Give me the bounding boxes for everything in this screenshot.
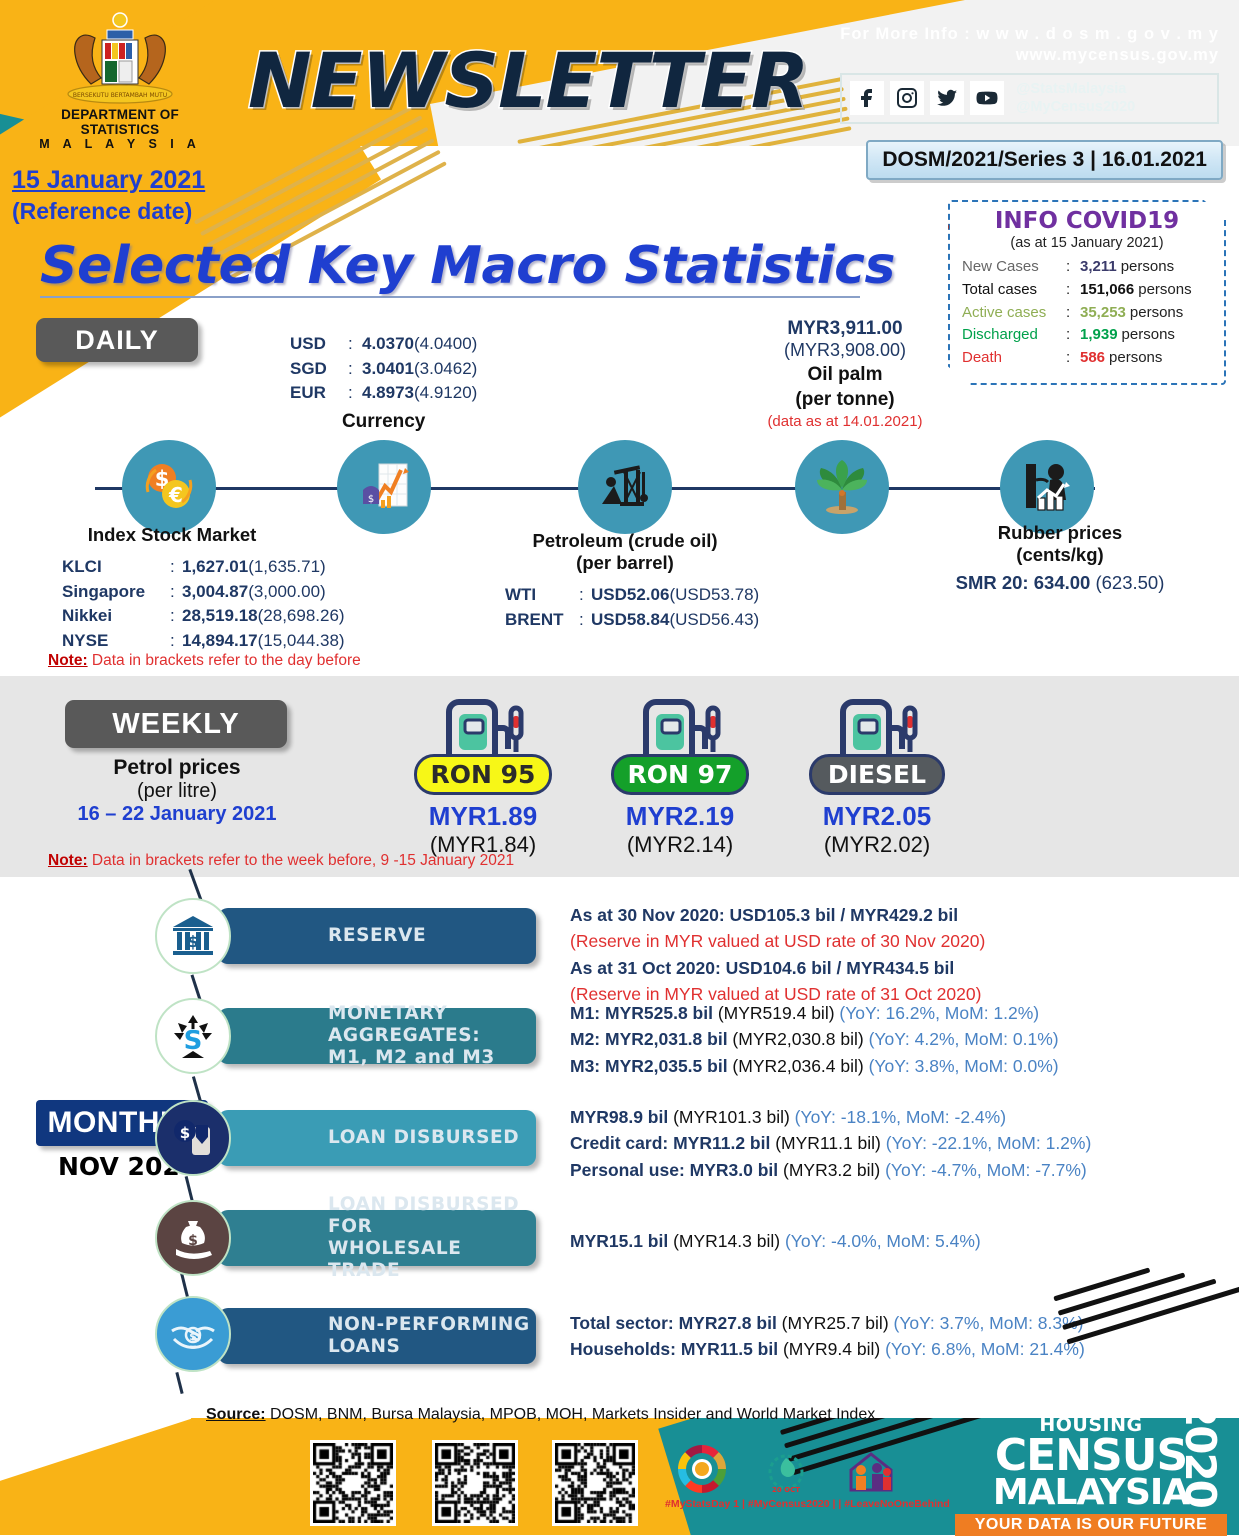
census-logo-tagline: YOUR DATA IS OUR FUTURE	[955, 1514, 1227, 1536]
stock-index-row: NYSE: 14,894.17 (15,044.38)	[62, 629, 345, 654]
weekly-section-pill: WEEKLY	[65, 700, 287, 748]
currency-caption: Currency	[290, 411, 477, 433]
daily-note-text: Data in brackets refer to the day before	[88, 652, 361, 669]
rubber-caption-line2: (cents/kg)	[1016, 544, 1103, 565]
currency-code: USD	[290, 332, 348, 357]
stock-index-name: NYSE	[62, 629, 170, 654]
svg-text:BERSEKUTU BERTAMBAH MUTU: BERSEKUTU BERTAMBAH MUTU	[73, 92, 167, 99]
fuel-price: MYR1.89	[388, 801, 578, 832]
fuel-price: MYR2.19	[585, 801, 775, 832]
covid-stat-label: Death	[962, 347, 1066, 370]
svg-text:$: $	[188, 1233, 198, 1249]
page-title: Selected Key Macro Statistics	[40, 236, 895, 296]
monthly-value-block: MYR15.1 bil (MYR14.3 bil) (YoY: -4.0%, M…	[570, 1228, 1130, 1254]
money-supply-icon: S	[155, 998, 231, 1074]
reference-date: 15 January 2021	[12, 166, 205, 195]
currency-exchange-icon: $ €	[122, 440, 216, 534]
daily-section-pill: DAILY	[36, 318, 198, 362]
twitter-icon[interactable]	[930, 81, 964, 115]
oil-palm-caption-line2: (per tonne)	[745, 389, 945, 411]
daily-note: Note: Data in brackets refer to the day …	[48, 652, 361, 670]
malaysia-coat-of-arms-icon: BERSEKUTU BERTAMBAH MUTU	[45, 8, 195, 106]
stock-index-name: KLCI	[62, 555, 170, 580]
footer-stripes-upper	[1053, 1238, 1239, 1402]
stock-index-previous: (1,635.71)	[248, 555, 326, 580]
monthly-value-line: (Reserve in MYR valued at USD rate of 30…	[570, 928, 1130, 954]
monthly-category-bar[interactable]: MONETARY AGGREGATES:M1, M2 and M3	[218, 1008, 536, 1064]
monthly-category-label: LOAN DISBURSED	[328, 1127, 519, 1149]
footer-white-wedge	[0, 1418, 191, 1511]
covid-stat-colon: :	[1066, 324, 1080, 347]
covid-stat-colon: :	[1066, 279, 1080, 302]
stock-index-name: Nikkei	[62, 604, 170, 629]
covid-stat-unit: persons	[1130, 302, 1183, 325]
qr-code-census[interactable]	[552, 1440, 638, 1526]
currency-value: 3.0401	[362, 357, 414, 382]
census-family-logo-icon	[845, 1444, 897, 1496]
covid-stat-colon: :	[1066, 302, 1080, 325]
currency-previous: (3.0462)	[414, 357, 477, 382]
qr-code-facebook[interactable]	[432, 1440, 518, 1526]
covid-stat-row: Active cases:35,253persons	[962, 302, 1224, 325]
more-info-line1: For More Info : w w w . d o s m . g o v …	[840, 24, 1219, 45]
covid-stat-row: Death:586persons	[962, 347, 1224, 370]
rubber-previous: (623.50)	[1095, 572, 1164, 593]
svg-text:20 OCT: 20 OCT	[772, 1486, 800, 1494]
monthly-category-label: MONETARY AGGREGATES:M1, M2 and M3	[328, 1003, 536, 1068]
covid-subtitle: (as at 15 January 2021)	[950, 235, 1224, 251]
oil-palm-previous: (MYR3,908.00)	[745, 340, 945, 361]
currency-block: USD: 4.0370 (4.0400)SGD: 3.0401 (3.0462)…	[290, 332, 477, 433]
monthly-value-line: MYR98.9 bil (MYR101.3 bil) (YoY: -18.1%,…	[570, 1104, 1130, 1130]
covid-stat-label: New Cases	[962, 256, 1066, 279]
source-label: Source:	[206, 1406, 266, 1423]
petroleum-block: WTI: USD52.06 (USD53.78)BRENT: USD58.84 …	[505, 583, 759, 632]
fuel-price-card: RON 97MYR2.19(MYR2.14)	[585, 698, 775, 858]
petroleum-value: USD52.06	[591, 583, 669, 608]
weekly-note: Note: Data in brackets refer to the week…	[48, 852, 514, 870]
index-stock-market-caption: Index Stock Market	[62, 524, 282, 546]
petroleum-row: BRENT: USD58.84 (USD56.43)	[505, 608, 759, 633]
fuel-previous-price: (MYR2.14)	[585, 832, 775, 858]
covid-info-box: INFO COVID19 (as at 15 January 2021) New…	[948, 200, 1226, 385]
stock-index-row: KLCI: 1,627.01 (1,635.71)	[62, 555, 345, 580]
oil-palm-value: MYR3,911.00	[745, 318, 945, 340]
fuel-price-card: DIESELMYR2.05(MYR2.02)	[782, 698, 972, 858]
bank-icon: $	[155, 898, 231, 974]
weekly-note-label: Note:	[48, 852, 88, 869]
covid-stat-unit: persons	[1122, 324, 1175, 347]
stock-index-previous: (3,000.00)	[248, 580, 326, 605]
currency-code: EUR	[290, 381, 348, 406]
covid-stat-value: 35,253	[1080, 302, 1126, 325]
svg-text:$: $	[180, 1124, 190, 1142]
stock-index-row: Nikkei: 28,519.18 (28,698.26)	[62, 604, 345, 629]
header-info-block: For More Info : w w w . d o s m . g o v …	[840, 24, 1219, 124]
rubber-current: SMR 20: 634.00	[956, 572, 1091, 593]
covid-stat-row: New Cases:3,211persons	[962, 256, 1224, 279]
monthly-category-bar[interactable]: LOAN DISBURSED	[218, 1110, 536, 1166]
covid-stat-value: 586	[1080, 347, 1105, 370]
petroleum-caption: Petroleum (crude oil) (per barrel)	[480, 530, 770, 574]
census-logo-year: 2020	[1176, 1398, 1225, 1507]
currency-previous: (4.9120)	[414, 381, 477, 406]
monthly-value-block: As at 30 Nov 2020: USD105.3 bil / MYR429…	[570, 902, 1130, 1007]
sdg-wheel-icon	[676, 1443, 728, 1495]
fuel-type-badge: DIESEL	[809, 754, 945, 795]
monthly-value-line: M2: MYR2,031.8 bil (MYR2,030.8 bil) (YoY…	[570, 1026, 1130, 1052]
covid-title: INFO COVID19	[950, 208, 1224, 234]
petrol-prices-caption: Petrol prices (per litre) 16 – 22 Januar…	[66, 756, 288, 826]
instagram-icon[interactable]	[890, 81, 924, 115]
daily-note-label: Note:	[48, 652, 88, 669]
covid-stat-unit: persons	[1109, 347, 1162, 370]
fuel-price-card: RON 95MYR1.89(MYR1.84)	[388, 698, 578, 858]
currency-row: SGD: 3.0401 (3.0462)	[290, 357, 477, 382]
oil-palm-note: (data as at 14.01.2021)	[745, 413, 945, 430]
youtube-icon[interactable]	[970, 81, 1004, 115]
covid-stat-colon: :	[1066, 347, 1080, 370]
currency-previous: (4.0400)	[414, 332, 477, 357]
monthly-category-bar[interactable]: RESERVE	[218, 908, 536, 964]
timeline-connector	[175, 1372, 183, 1394]
fuel-type-badge: RON 97	[611, 754, 750, 795]
monthly-category-bar[interactable]: NON-PERFORMING LOANS	[218, 1308, 536, 1364]
svg-text:€: €	[168, 483, 183, 507]
currency-code: SGD	[290, 357, 348, 382]
svg-text:$: $	[189, 1330, 197, 1343]
monthly-value-block: MYR98.9 bil (MYR101.3 bil) (YoY: -18.1%,…	[570, 1104, 1130, 1183]
monthly-value-line: M1: MYR525.8 bil (MYR519.4 bil) (YoY: 16…	[570, 1000, 1130, 1026]
social-handles: @StatsMalaysia @MyCensus2020	[1016, 80, 1135, 116]
petrol-caption-line2: (per litre)	[66, 780, 288, 803]
monthly-value-line: As at 30 Nov 2020: USD105.3 bil / MYR429…	[570, 902, 1130, 928]
rubber-value: SMR 20: 634.00 (623.50)	[930, 572, 1190, 594]
loan-disbursed-icon: $	[155, 1100, 231, 1176]
monthly-value-line: Total sector: MYR27.8 bil (MYR25.7 bil) …	[570, 1310, 1130, 1336]
reference-date-label: (Reference date)	[12, 198, 192, 225]
newsletter-wordmark: NEWSLETTER	[248, 36, 808, 125]
fuel-price: MYR2.05	[782, 801, 972, 832]
svg-text:$: $	[187, 932, 198, 951]
petroleum-previous: (USD56.43)	[669, 608, 759, 633]
stock-index-previous: (15,044.38)	[258, 629, 345, 654]
monthly-value-block: M1: MYR525.8 bil (MYR519.4 bil) (YoY: 16…	[570, 1000, 1130, 1079]
currency-row: EUR: 4.8973 (4.9120)	[290, 381, 477, 406]
covid-stat-label: Total cases	[962, 279, 1066, 302]
mystatsday-logo-icon: 20 OCT	[760, 1444, 812, 1496]
timeline-connector	[180, 1272, 189, 1298]
index-stock-market-block: KLCI: 1,627.01 (1,635.71)Singapore: 3,00…	[62, 555, 345, 654]
handle-mycensus2020: @MyCensus2020	[1016, 98, 1135, 116]
facebook-icon[interactable]	[850, 81, 884, 115]
monthly-value-line: Credit card: MYR11.2 bil (MYR11.1 bil) (…	[570, 1130, 1130, 1156]
covid-stat-colon: :	[1066, 256, 1080, 279]
svg-text:S: S	[184, 1026, 203, 1056]
currency-value: 4.0370	[362, 332, 414, 357]
monthly-value-line: MYR15.1 bil (MYR14.3 bil) (YoY: -4.0%, M…	[570, 1228, 1130, 1254]
covid-stat-unit: persons	[1138, 279, 1191, 302]
monthly-category-label: LOAN DISBURSED FORWHOLESALE TRADE	[328, 1194, 536, 1281]
stock-index-value: 14,894.17	[182, 629, 258, 654]
monthly-value-line: As at 31 Oct 2020: USD104.6 bil / MYR434…	[570, 955, 1130, 981]
monthly-value-line: Personal use: MYR3.0 bil (MYR3.2 bil) (Y…	[570, 1157, 1130, 1183]
covid-stat-unit: persons	[1121, 256, 1174, 279]
petroleum-name: BRENT	[505, 608, 579, 633]
dosm-crest: BERSEKUTU BERTAMBAH MUTU DEPARTMENT OF S…	[30, 8, 210, 140]
fuel-type-badge: RON 95	[414, 754, 553, 795]
social-media-box: @StatsMalaysia @MyCensus2020	[840, 73, 1219, 123]
svg-text:$: $	[368, 494, 374, 505]
oil-palm-block: MYR3,911.00 (MYR3,908.00) Oil palm (per …	[745, 318, 945, 430]
petroleum-pumpjack-icon	[578, 440, 672, 534]
covid-stat-value: 3,211	[1080, 256, 1117, 279]
stock-index-value: 28,519.18	[182, 604, 258, 629]
fuel-previous-price: (MYR2.02)	[782, 832, 972, 858]
petroleum-name: WTI	[505, 583, 579, 608]
monthly-category-label: RESERVE	[328, 925, 426, 947]
more-info-line2: www.mycensus.gov.my	[840, 45, 1219, 66]
stock-index-value: 1,627.01	[182, 555, 248, 580]
stock-index-previous: (28,698.26)	[258, 604, 345, 629]
hashtags-line: #MyStatsDay 1 | #MyCensus2020 | | #Leave…	[665, 1498, 950, 1510]
weekly-note-text: Data in brackets refer to the week befor…	[88, 852, 515, 869]
oil-palm-caption-line1: Oil palm	[745, 364, 945, 386]
series-badge: DOSM/2021/Series 3 | 16.01.2021	[866, 140, 1223, 180]
handle-statsmalaysia: @StatsMalaysia	[1016, 80, 1135, 98]
stock-index-value: 3,004.87	[182, 580, 248, 605]
oil-palm-tree-icon	[795, 440, 889, 534]
department-name-line1: DEPARTMENT OF STATISTICS	[30, 107, 210, 137]
rubber-tapping-icon	[1000, 440, 1094, 534]
monthly-category-bar[interactable]: LOAN DISBURSED FORWHOLESALE TRADE	[218, 1210, 536, 1266]
title-divider	[40, 296, 860, 298]
petroleum-caption-line2: (per barrel)	[576, 552, 674, 573]
stock-market-chart-icon: $	[337, 440, 431, 534]
monthly-category-label: NON-PERFORMING LOANS	[328, 1314, 536, 1358]
rubber-caption-line1: Rubber prices	[998, 522, 1122, 543]
covid-stats-list: New Cases:3,211personsTotal cases:151,06…	[950, 256, 1224, 370]
census-malaysia-logo: POPULATION & HOUSING CENSUS MALAYSIA 202…	[955, 1392, 1227, 1518]
stock-index-name: Singapore	[62, 580, 170, 605]
rubber-caption: Rubber prices (cents/kg)	[930, 522, 1190, 566]
petroleum-previous: (USD53.78)	[669, 583, 759, 608]
covid-stat-value: 1,939	[1080, 324, 1118, 347]
monthly-value-line: M3: MYR2,035.5 bil (MYR2,036.4 bil) (YoY…	[570, 1053, 1130, 1079]
covid-stat-label: Active cases	[962, 302, 1066, 325]
stock-index-row: Singapore: 3,004.87 (3,000.00)	[62, 580, 345, 605]
covid-stat-row: Total cases:151,066persons	[962, 279, 1224, 302]
monthly-value-line: Households: MYR11.5 bil (MYR9.4 bil) (Yo…	[570, 1336, 1130, 1362]
department-name-line2: M A L A Y S I A	[30, 137, 210, 151]
source-line: Source: DOSM, BNM, Bursa Malaysia, MPOB,…	[206, 1406, 875, 1424]
source-text: DOSM, BNM, Bursa Malaysia, MPOB, MOH, Ma…	[266, 1406, 876, 1423]
petrol-caption-line1: Petrol prices	[66, 756, 288, 780]
petroleum-row: WTI: USD52.06 (USD53.78)	[505, 583, 759, 608]
covid-stat-value: 151,066	[1080, 279, 1134, 302]
petrol-caption-dates: 16 – 22 January 2021	[66, 803, 288, 826]
currency-value: 4.8973	[362, 381, 414, 406]
petroleum-value: USD58.84	[591, 608, 669, 633]
covid-stat-row: Discharged:1,939persons	[962, 324, 1224, 347]
money-bag-hand-icon: $	[155, 1200, 231, 1276]
handshake-money-icon: $	[155, 1296, 231, 1372]
petroleum-caption-line1: Petroleum (crude oil)	[532, 530, 717, 551]
monthly-value-block: Total sector: MYR27.8 bil (MYR25.7 bil) …	[570, 1310, 1130, 1363]
currency-row: USD: 4.0370 (4.0400)	[290, 332, 477, 357]
covid-stat-label: Discharged	[962, 324, 1066, 347]
qr-code-dosm[interactable]	[310, 1440, 396, 1526]
